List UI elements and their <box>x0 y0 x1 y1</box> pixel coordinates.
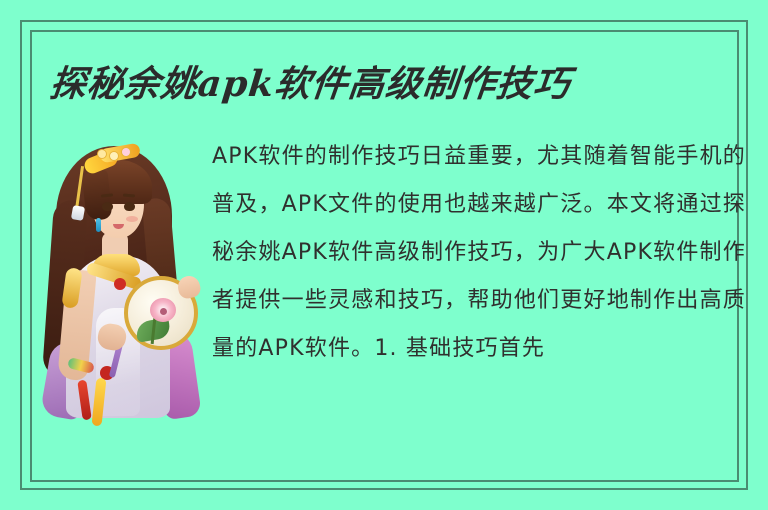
earring <box>96 218 101 232</box>
page-title: 探秘余姚apk软件高级制作技巧 <box>47 58 712 110</box>
hairpin-bead-2 <box>122 148 130 156</box>
fan-lotus-core <box>160 308 167 315</box>
blush <box>126 216 138 222</box>
promo-banner: 探秘余姚apk软件高级制作技巧 <box>0 0 768 510</box>
eye-left <box>102 202 113 211</box>
eye-right <box>124 202 135 211</box>
hairpin-bead-3 <box>98 150 106 158</box>
hairpin-bead-1 <box>110 152 118 160</box>
hairpin-tassel <box>71 205 85 221</box>
red-knot-collar <box>114 278 126 290</box>
body-paragraph: APK软件的制作技巧日益重要，尤其随着智能手机的普及，APK文件的使用也越来越广… <box>212 133 746 373</box>
illustration-anime-woman-with-round-fan <box>40 128 198 418</box>
